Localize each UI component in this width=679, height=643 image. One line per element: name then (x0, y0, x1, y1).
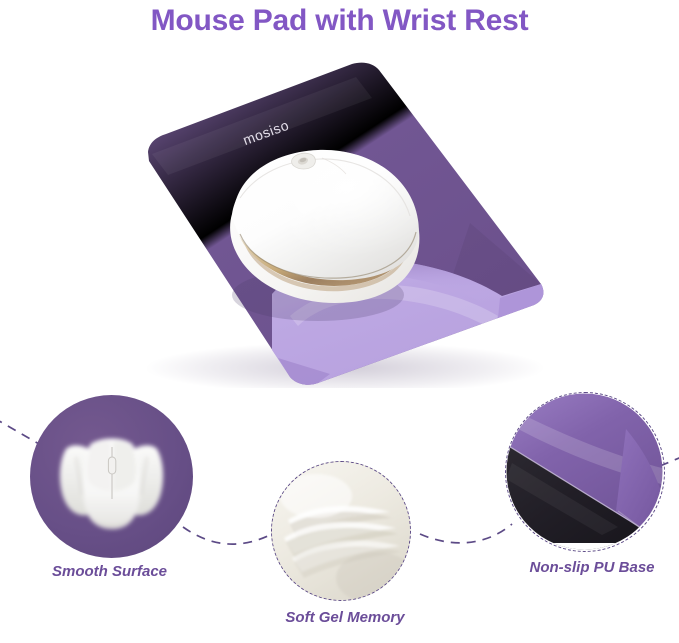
feature-smooth-surface: Smooth Surface (30, 395, 205, 595)
pad-underside-pu-base-icon (506, 393, 663, 550)
feature-non-slip-pu-base-label: Non-slip PU Base (505, 559, 679, 576)
hero-product-photo: mosiso (0, 48, 679, 388)
feature-smooth-surface-label: Smooth Surface (22, 563, 197, 580)
feature-soft-gel-memory-disc (271, 461, 411, 601)
feature-soft-gel-memory: Soft Gel Memory (271, 461, 421, 643)
product-infographic: Mouse Pad with Wrist Rest (0, 0, 679, 643)
connector-two-to-three (420, 524, 512, 543)
page-title: Mouse Pad with Wrist Rest (0, 2, 679, 40)
scroll-wheel (292, 153, 316, 169)
feature-smooth-surface-disc (30, 395, 193, 558)
feature-non-slip-pu-base: Non-slip PU Base (505, 392, 679, 592)
white-mouse-front-view-icon (30, 395, 193, 558)
wireless-mouse (230, 150, 419, 321)
feature-soft-gel-memory-label: Soft Gel Memory (270, 609, 420, 626)
feature-non-slip-pu-base-disc (505, 392, 665, 552)
gel-foam-texture-icon (272, 462, 409, 599)
